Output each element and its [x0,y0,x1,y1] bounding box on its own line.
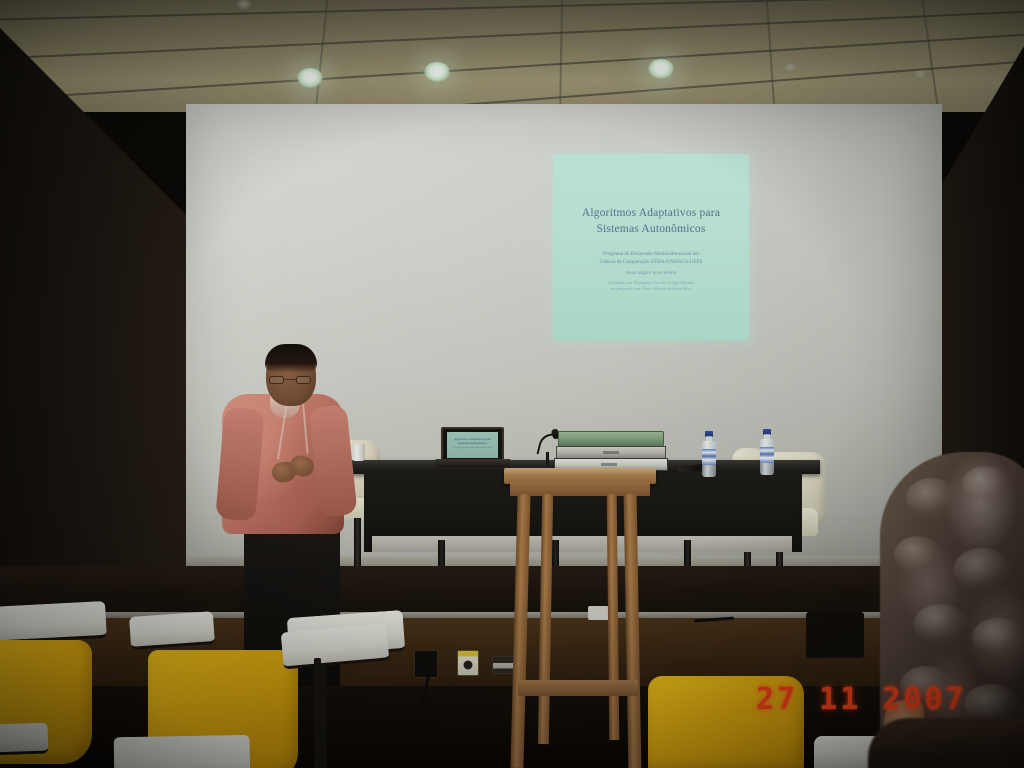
desk-tablet-arm [114,735,251,768]
ceiling-downlight [297,68,323,88]
bottle-label [702,449,716,465]
easel-leg [538,494,553,744]
ceiling-grid-line [0,31,1024,104]
presenter [222,346,382,646]
glasses-bridge [284,379,296,380]
slide-advisor-line-1: Orientado por Raimundo José de Araújo Ma… [567,280,735,287]
chair-frame-post [314,658,321,768]
microphone-stand [546,452,549,466]
laptop-screen: Algoritmos Adaptativos para Sistemas Aut… [447,432,498,458]
easel-leg [624,494,642,768]
smoke-detector-fitting [236,0,252,10]
power-outlet-yellow[interactable] [457,650,479,676]
sprinkler-fitting [912,70,928,80]
binder-green [558,431,664,447]
ceiling-downlight [648,59,674,79]
hair-curl [914,604,968,644]
water-bottle[interactable] [760,429,774,475]
slide-advisor-line-2: em parceria com Flavio Morais de Assis S… [567,286,735,293]
slide-title-line-2: Sistemas Autonômicos [553,222,749,238]
audience-member-shoulder [868,718,1024,768]
slide-title: Algoritmos Adaptativos para Sistemas Aut… [553,206,749,237]
glasses-lens-right [296,376,311,384]
easel-leg [607,494,620,740]
slide-author: Allan Edgard Silva Freitas [553,271,749,276]
wooden-easel-stand[interactable] [504,468,660,768]
student-desk-chair[interactable] [282,628,402,768]
laptop-base [435,459,511,467]
slide-program-line-1: Programa de Doutorado Multiinstitucional… [565,251,737,259]
slide-title-line-1: Algoritmos Adaptativos para [553,206,749,222]
hair-curl [906,478,958,518]
projected-slide: Algoritmos Adaptativos para Sistemas Aut… [553,154,749,340]
ceiling-grid-line [313,0,330,112]
sprinkler-fitting [782,63,798,73]
binder-tab [601,463,617,466]
laptop-lid: Algoritmos Adaptativos para Sistemas Aut… [441,427,504,461]
laptop-screen-subtitle: Programa de Doutorado Multiinstitucional [447,447,498,450]
easel-cross-brace [518,680,638,696]
slide-advisor: Orientado por Raimundo José de Araújo Ma… [553,280,749,294]
laptop-screen-title-line-2: Sistemas Autonômicos [447,441,498,445]
hair-curl [894,536,942,574]
side-wall-left [0,28,212,588]
camera-date-stamp: 27 11 2007 [756,682,967,717]
presenter-hair [265,344,317,372]
bottle-label [760,447,774,463]
easel-leg [510,494,530,768]
ceiling [0,0,1024,112]
presentation-photo: Algoritmos Adaptativos para Sistemas Aut… [0,0,1024,768]
water-bottle[interactable] [702,431,716,477]
desk-tablet-arm [0,723,49,757]
desk-tablet-arm [281,623,390,669]
hair-curl [972,618,1022,656]
stacked-binders[interactable] [558,431,674,473]
hair-curl [954,548,1010,590]
binder-tab [603,451,619,454]
laptop-screen-title: Algoritmos Adaptativos para Sistemas Aut… [447,437,498,445]
ceiling-grid-line [765,0,777,112]
slide-program-line-2: Ciência da Computação UFBA-UNIFACS-UEFS [565,259,737,267]
desk-tablet-arm [0,601,107,644]
glasses-lens-left [269,376,284,384]
hair-curl [962,466,1008,502]
presenter-glasses [269,376,311,384]
slide-program: Programa de Doutorado Multiinstitucional… [553,251,749,267]
ceiling-downlight [424,62,450,82]
laptop[interactable]: Algoritmos Adaptativos para Sistemas Aut… [441,427,504,465]
equipment-case [806,612,864,658]
